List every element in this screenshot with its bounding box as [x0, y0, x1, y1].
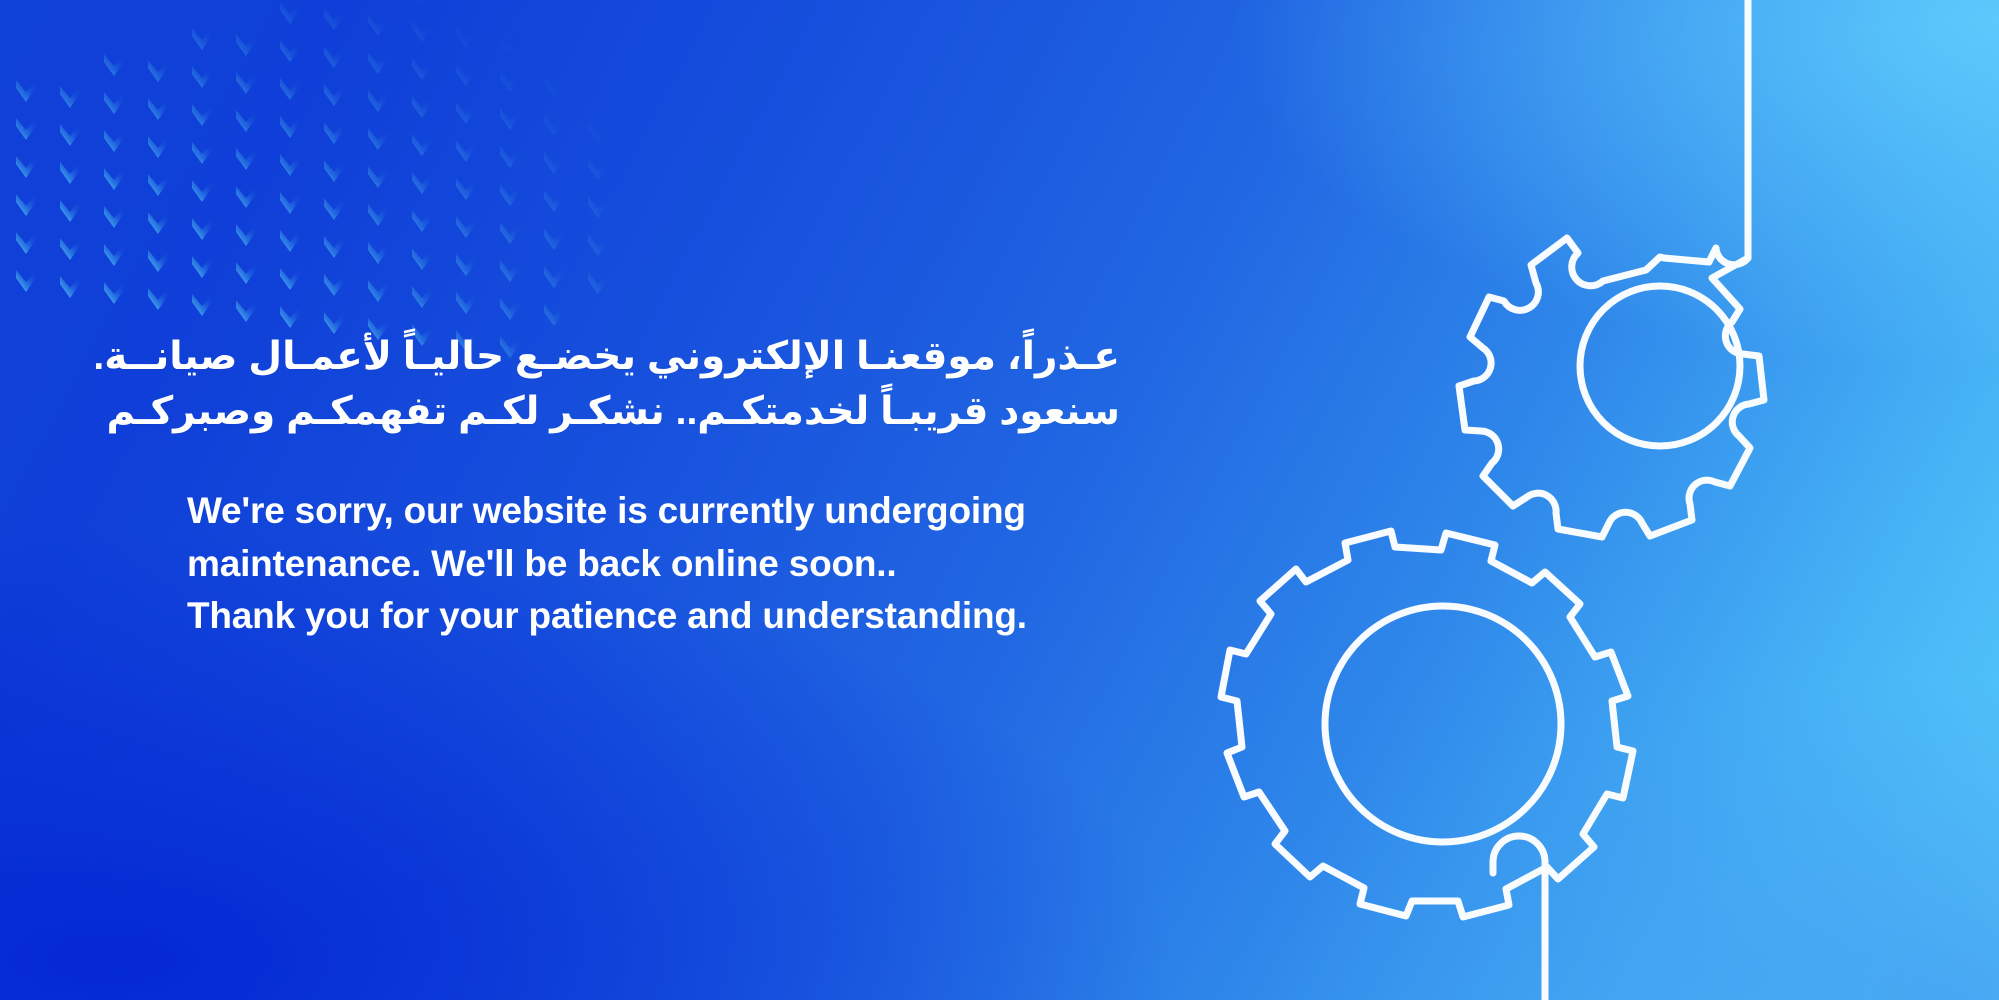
english-message: We're sorry, our website is currently un… [187, 485, 1147, 643]
english-message-line-3: Thank you for your patience and understa… [187, 590, 1147, 643]
maintenance-page: عـذراً، موقعنـا الإلكتروني يخضـع حاليـاً… [0, 0, 1999, 1000]
arabic-message-line-1: عـذراً، موقعنـا الإلكتروني يخضـع حاليـاً… [187, 330, 1120, 385]
arabic-message-line-2: سنعود قريبـاً لخدمتكـم.. نشكـر لكـم تفهم… [187, 385, 1120, 440]
english-message-line-1: We're sorry, our website is currently un… [187, 485, 1147, 538]
message-block: عـذراً، موقعنـا الإلكتروني يخضـع حاليـاً… [187, 330, 1147, 643]
arabic-message: عـذراً، موقعنـا الإلكتروني يخضـع حاليـاً… [187, 330, 1120, 439]
english-message-line-2: maintenance. We'll be back online soon.. [187, 538, 1147, 591]
